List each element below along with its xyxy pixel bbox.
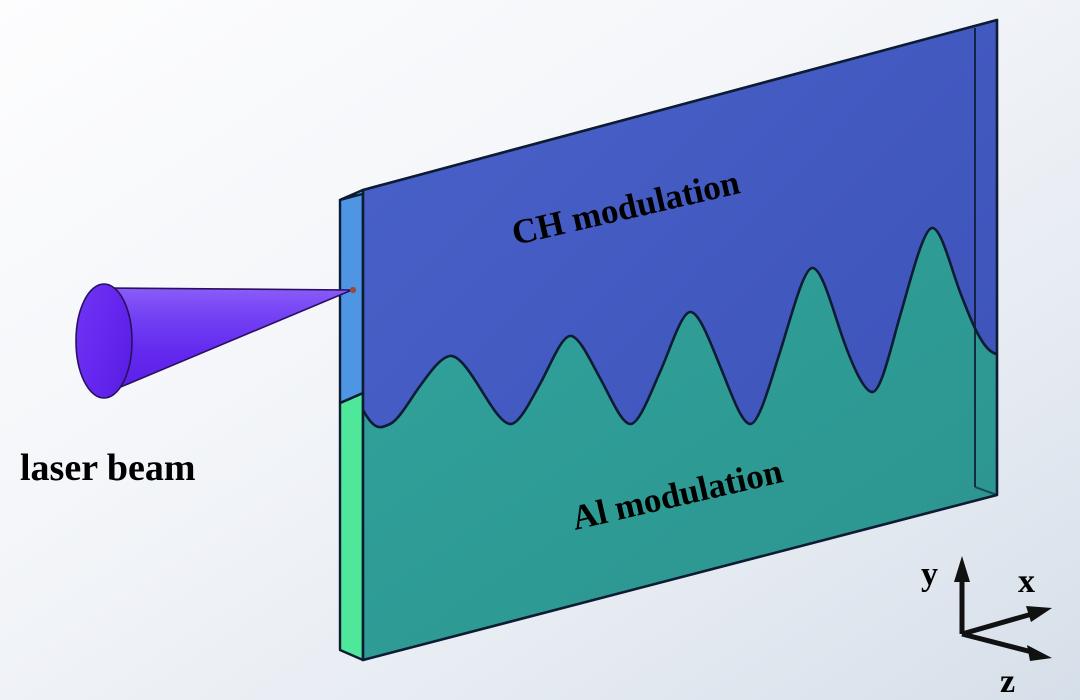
- slab-left-face-al: [340, 393, 363, 660]
- axis-y-label: y: [921, 556, 938, 593]
- figure-canvas: laser beam CH modulation Al modulation y…: [0, 0, 1080, 700]
- axis-z-label: z: [1000, 663, 1015, 700]
- slab-left-face-ch: [340, 190, 363, 403]
- schematic-svg: laser beam CH modulation Al modulation y…: [0, 0, 1080, 700]
- laser-beam-label: laser beam: [20, 447, 196, 489]
- laser-cone-base: [76, 284, 132, 398]
- axis-x-label: x: [1018, 563, 1035, 600]
- laser-impact-point-icon: [350, 287, 356, 293]
